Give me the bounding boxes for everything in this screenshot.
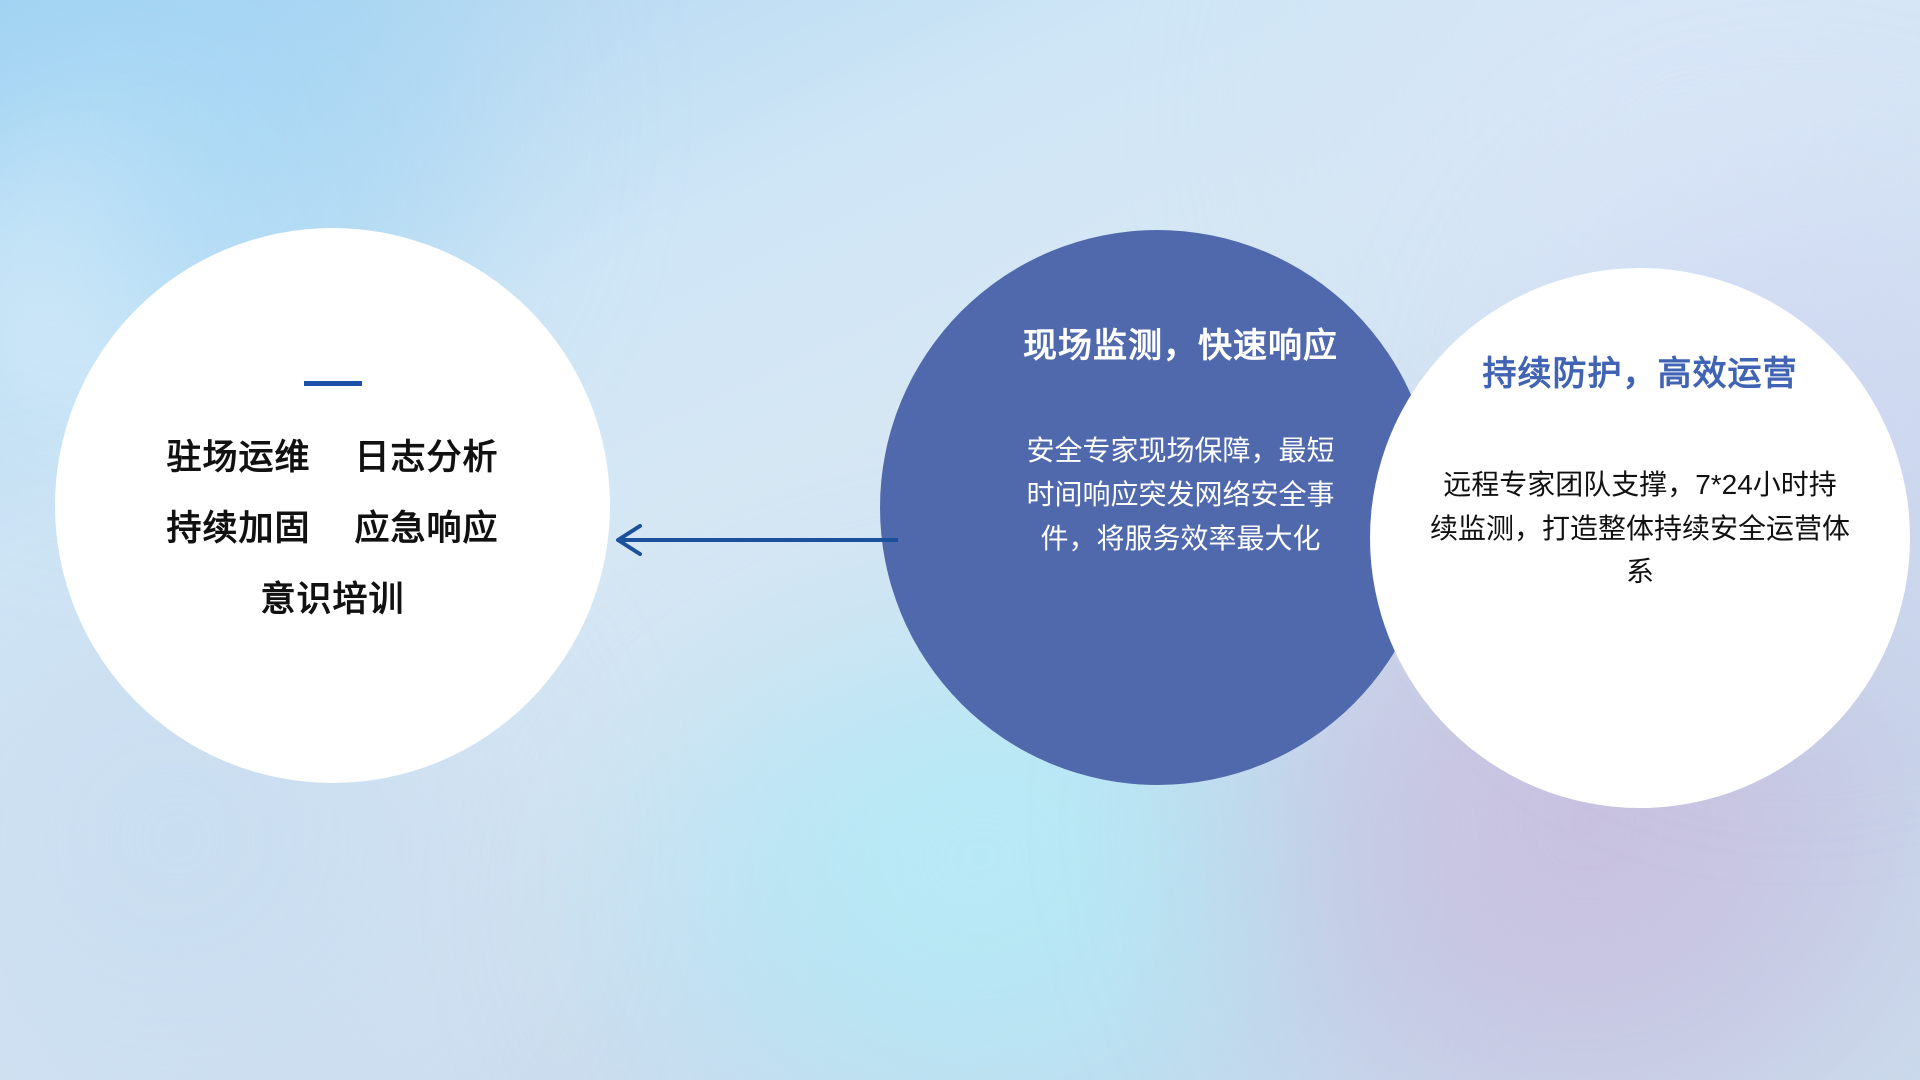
continuous-protection-circle[interactable]: 持续防护，高效运营 远程专家团队支撑，7*24小时持续监测，打造整体持续安全运营… [1370,268,1910,808]
keyword-item: 驻场运维 [166,440,310,475]
flow-arrow-left [600,520,900,560]
keyword-row: 持续加固 应急响应 [166,511,498,546]
onsite-monitoring-title: 现场监测，快速响应 [1023,318,1338,367]
keyword-item: 意识培训 [260,582,404,617]
divider-line [304,381,362,386]
onsite-monitoring-body: 安全专家现场保障，最短时间响应突发网络安全事件，将服务效率最大化 [1016,429,1346,562]
continuous-protection-body: 远程专家团队支撑，7*24小时持续监测，打造整体持续安全运营体系 [1430,463,1850,594]
slide-canvas: 驻场运维 日志分析 持续加固 应急响应 意识培训 现场监测，快速响应 安全专家现… [0,0,1920,1080]
onsite-monitoring-circle[interactable]: 现场监测，快速响应 安全专家现场保障，最短时间响应突发网络安全事件，将服务效率最… [880,230,1435,785]
arrow-left-icon [600,520,900,560]
keyword-item: 应急响应 [355,511,499,546]
capabilities-circle[interactable]: 驻场运维 日志分析 持续加固 应急响应 意识培训 [55,228,610,783]
keyword-row: 意识培训 [260,582,404,617]
keyword-row: 驻场运维 日志分析 [166,440,498,475]
keyword-item: 持续加固 [166,511,310,546]
continuous-protection-title: 持续防护，高效运营 [1483,346,1798,395]
keyword-item: 日志分析 [355,440,499,475]
